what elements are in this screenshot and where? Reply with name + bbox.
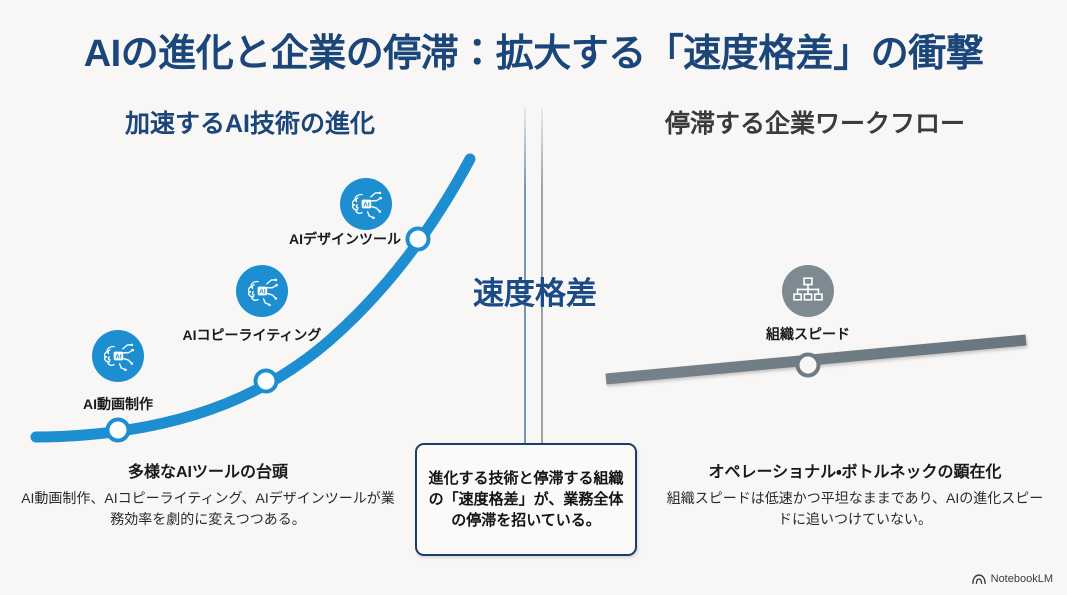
node-marker-ai-copywriting[interactable] [256, 371, 277, 392]
left-caption-body: AI動画制作、AIコピーライティング、AIデザインツールが業務効率を劇的に変えつ… [18, 488, 398, 530]
ai-brain-circuit-icon-badge-2: AI [236, 265, 288, 317]
node-label-ai-video: AI動画制作 [28, 394, 208, 414]
node-label-org-speed: 組織スピード [718, 324, 898, 344]
left-caption-block: 多様なAIツールの台頭 AI動画制作、AIコピーライティング、AIデザインツール… [18, 458, 398, 530]
node-label-ai-copywriting: AIコピーライティング [152, 325, 352, 345]
node-label-ai-design: AIデザインツール [250, 229, 440, 249]
center-callout-text: 進化する技術と停滞する組織の「速度格差」が、業務全体の停滞を招いている。 [425, 468, 627, 532]
ai-brain-circuit-icon-badge-1: AI [92, 330, 144, 382]
watermark-label: NotebookLM [991, 573, 1053, 585]
infographic-canvas: AIの進化と企業の停滞：拡大する「速度格差」の衝撃 加速するAI技術の進化 停滞… [0, 0, 1067, 595]
svg-text:AI: AI [259, 289, 266, 296]
right-caption-title: オペレーショナル・ボトルネックの顕在化 [660, 458, 1050, 482]
org-chart-icon-badge [782, 265, 834, 317]
ai-brain-circuit-icon: AI [99, 337, 137, 375]
svg-text:AI: AI [363, 202, 370, 209]
svg-text:AI: AI [115, 354, 122, 361]
ai-brain-circuit-icon: AI [347, 185, 385, 223]
org-chart-icon [792, 275, 824, 307]
ai-brain-circuit-icon: AI [243, 272, 281, 310]
node-marker-ai-video[interactable] [108, 420, 129, 441]
ai-brain-circuit-icon-badge-3: AI [340, 178, 392, 230]
center-callout-box: 進化する技術と停滞する組織の「速度格差」が、業務全体の停滞を招いている。 [415, 443, 637, 556]
node-marker-org-speed[interactable] [798, 355, 819, 376]
notebooklm-logo-icon [972, 574, 986, 585]
right-caption-body: 組織スピードは低速かつ平坦なままであり、AIの進化スピードに追いつけていない。 [660, 488, 1050, 530]
right-caption-block: オペレーショナル・ボトルネックの顕在化 組織スピードは低速かつ平坦なままであり、… [660, 458, 1050, 530]
watermark: NotebookLM [972, 573, 1053, 585]
left-caption-title: 多様なAIツールの台頭 [18, 458, 398, 482]
